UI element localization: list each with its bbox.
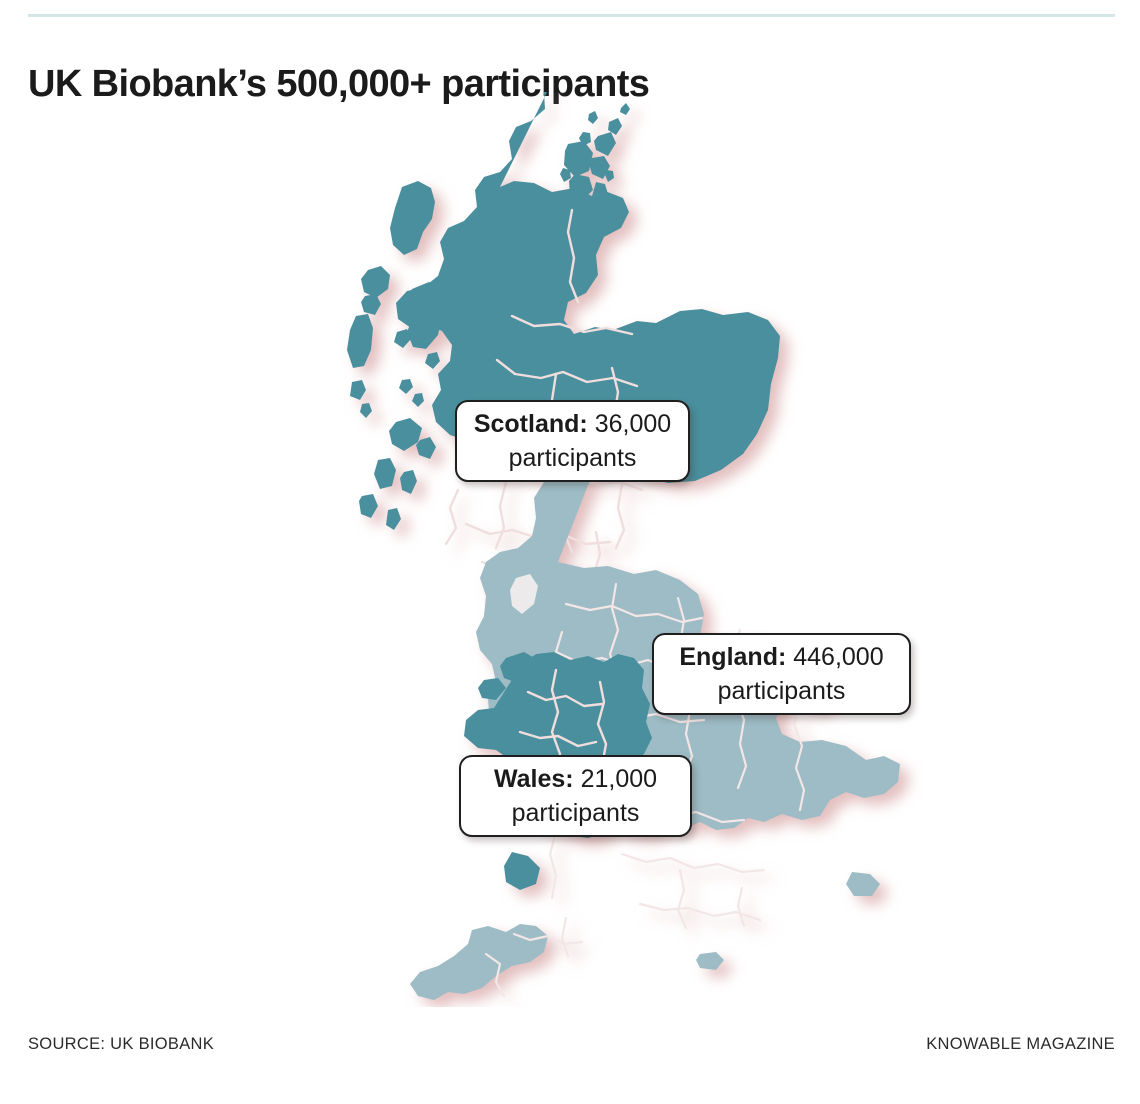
callout-wales-value: 21,000 [581,765,657,793]
callout-scotland-value: 36,000 [595,410,671,438]
callout-scotland-lead: Scotland: [474,410,588,438]
callout-wales-lead: Wales: [494,765,574,793]
callout-wales[interactable]: Wales: 21,000 participants [459,755,692,837]
callout-scotland[interactable]: Scotland: 36,000 participants [455,400,690,482]
callout-england-lead: England: [679,643,786,671]
callout-scotland-unit: participants [509,444,637,472]
callout-england-unit: participants [718,677,846,705]
callout-england[interactable]: England: 446,000 participants [652,633,911,715]
footer-source: SOURCE: UK BIOBANK [28,1035,214,1054]
map-figure [0,92,1140,1007]
callout-england-text: England: 446,000 participants [654,640,909,708]
callout-scotland-text: Scotland: 36,000 participants [457,407,688,475]
callout-wales-unit: participants [512,799,640,827]
callout-wales-text: Wales: 21,000 participants [461,762,690,830]
footer-brand: KNOWABLE MAGAZINE [926,1035,1115,1054]
top-divider-rule [28,14,1115,17]
great-britain-map[interactable] [0,92,1140,1007]
callout-england-value: 446,000 [793,643,883,671]
